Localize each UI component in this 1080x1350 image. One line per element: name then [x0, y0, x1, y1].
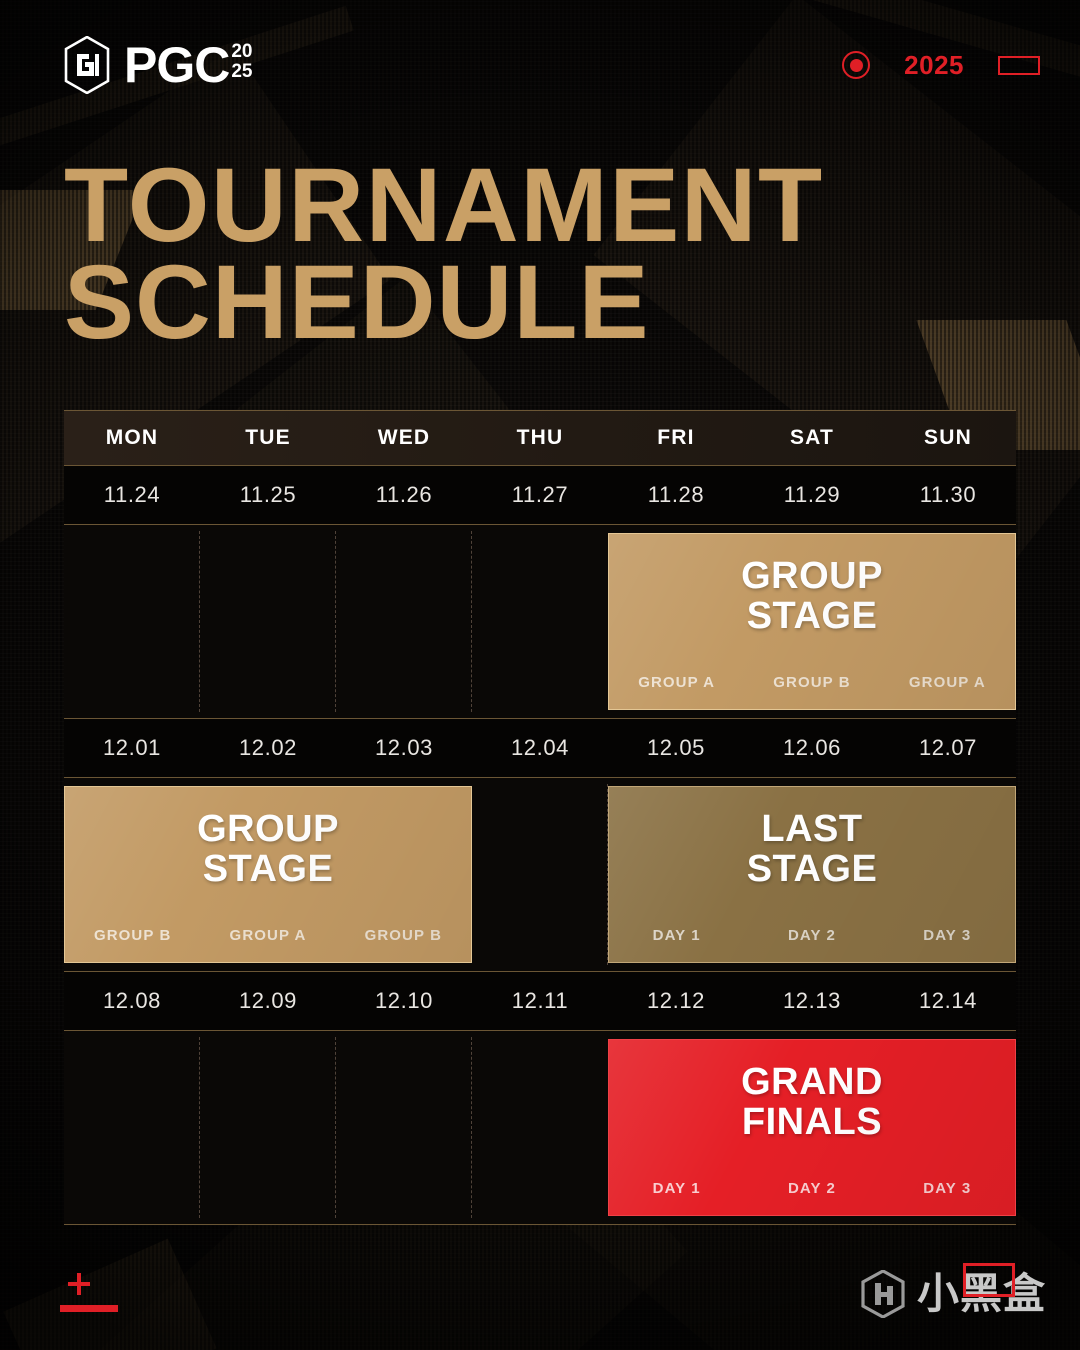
weekday-thu: THU — [472, 411, 608, 465]
brand-wordmark: PGC 20 25 — [124, 40, 253, 90]
date-cell: 12.05 — [608, 719, 744, 777]
event-title-line2: STAGE — [747, 850, 878, 890]
date-cell: 12.10 — [336, 972, 472, 1030]
date-cell: 12.02 — [200, 719, 336, 777]
event-sublabel: GROUP A — [880, 674, 1015, 691]
date-cell: 12.13 — [744, 972, 880, 1030]
watermark: 小黑盒 — [861, 1270, 1046, 1318]
event-title: LAST STAGE — [609, 787, 1015, 927]
weekday-sun: SUN — [880, 411, 1016, 465]
event-row-week2: GROUP STAGE GROUP B GROUP A GROUP B LAST… — [64, 778, 1016, 972]
weekday-fri: FRI — [608, 411, 744, 465]
empty-slot — [336, 525, 472, 718]
date-cell: 11.27 — [472, 466, 608, 524]
empty-slot — [200, 525, 336, 718]
brand-name: PGC — [124, 40, 229, 90]
date-cell: 11.24 — [64, 466, 200, 524]
date-cell: 11.26 — [336, 466, 472, 524]
event-title-line1: GROUP — [741, 557, 883, 597]
weekday-wed: WED — [336, 411, 472, 465]
poster-canvas: PGC 20 25 2025 TOURNAMENT SCHEDULE MON T… — [0, 0, 1080, 1350]
date-row-week1: 11.24 11.25 11.26 11.27 11.28 11.29 11.3… — [64, 466, 1016, 525]
empty-slot — [64, 1031, 200, 1224]
event-sublabel: GROUP B — [65, 927, 200, 944]
date-cell: 12.01 — [64, 719, 200, 777]
empty-slot — [336, 1031, 472, 1224]
weekday-tue: TUE — [200, 411, 336, 465]
page-title: TOURNAMENT SCHEDULE — [64, 158, 824, 351]
date-cell: 12.09 — [200, 972, 336, 1030]
date-cell: 11.25 — [200, 466, 336, 524]
date-cell: 12.03 — [336, 719, 472, 777]
page-title-line1: TOURNAMENT — [64, 158, 824, 255]
date-cell: 12.11 — [472, 972, 608, 1030]
date-row-week3: 12.08 12.09 12.10 12.11 12.12 12.13 12.1… — [64, 972, 1016, 1031]
event-row-week3: GRAND FINALS DAY 1 DAY 2 DAY 3 — [64, 1031, 1016, 1225]
empty-slot — [64, 525, 200, 718]
event-block-group-stage[interactable]: GROUP STAGE GROUP B GROUP A GROUP B — [64, 786, 472, 963]
event-sublabel: DAY 2 — [744, 927, 879, 944]
event-sublabels: DAY 1 DAY 2 DAY 3 — [609, 927, 1015, 962]
event-sublabels: GROUP A GROUP B GROUP A — [609, 674, 1015, 709]
empty-slot — [472, 525, 608, 718]
event-title: GROUP STAGE — [65, 787, 471, 927]
tournament-schedule-grid: MON TUE WED THU FRI SAT SUN 11.24 11.25 … — [64, 410, 1016, 1225]
watermark-box-icon — [963, 1263, 1015, 1297]
date-row-week2: 12.01 12.02 12.03 12.04 12.05 12.06 12.0… — [64, 719, 1016, 778]
rectangle-outline-icon — [998, 56, 1040, 75]
weekday-mon: MON — [64, 411, 200, 465]
plus-mark-icon — [68, 1273, 90, 1295]
event-title-line1: GROUP — [197, 810, 339, 850]
brand-lockup: PGC 20 25 — [64, 36, 253, 94]
date-cell: 12.06 — [744, 719, 880, 777]
date-cell: 12.07 — [880, 719, 1016, 777]
empty-slot — [472, 1031, 608, 1224]
footer-left-marks — [60, 1273, 118, 1312]
event-block-group-stage[interactable]: GROUP STAGE GROUP A GROUP B GROUP A — [608, 533, 1016, 710]
empty-slot — [200, 1031, 336, 1224]
event-sublabel: GROUP A — [200, 927, 335, 944]
event-title: GRAND FINALS — [609, 1040, 1015, 1180]
event-sublabel: GROUP A — [609, 674, 744, 691]
event-title-line1: LAST — [761, 810, 862, 850]
heybox-hex-icon — [861, 1270, 905, 1318]
event-sublabel: DAY 2 — [744, 1180, 879, 1197]
event-title-line2: FINALS — [742, 1103, 882, 1143]
event-title-line2: STAGE — [203, 850, 334, 890]
event-sublabel: GROUP B — [744, 674, 879, 691]
event-block-grand-finals[interactable]: GRAND FINALS DAY 1 DAY 2 DAY 3 — [608, 1039, 1016, 1216]
top-right-marks: 2025 — [842, 50, 1040, 81]
date-cell: 12.08 — [64, 972, 200, 1030]
empty-slot — [472, 778, 608, 971]
date-cell: 11.28 — [608, 466, 744, 524]
brand-year-bottom: 25 — [231, 62, 252, 82]
date-cell: 12.04 — [472, 719, 608, 777]
event-block-last-stage[interactable]: LAST STAGE DAY 1 DAY 2 DAY 3 — [608, 786, 1016, 963]
event-sublabel: DAY 1 — [609, 927, 744, 944]
event-sublabel: DAY 3 — [880, 927, 1015, 944]
weekday-header-row: MON TUE WED THU FRI SAT SUN — [64, 410, 1016, 466]
edition-year: 2025 — [904, 50, 964, 81]
event-title-line2: STAGE — [747, 597, 878, 637]
top-bar: PGC 20 25 2025 — [0, 0, 1080, 130]
red-bar-icon — [60, 1305, 118, 1312]
event-title: GROUP STAGE — [609, 534, 1015, 674]
weekday-sat: SAT — [744, 411, 880, 465]
event-row-week1: GROUP STAGE GROUP A GROUP B GROUP A — [64, 525, 1016, 719]
date-cell: 12.14 — [880, 972, 1016, 1030]
brand-year: 20 25 — [231, 42, 252, 82]
event-sublabel: DAY 3 — [880, 1180, 1015, 1197]
event-sublabels: GROUP B GROUP A GROUP B — [65, 927, 471, 962]
date-cell: 11.29 — [744, 466, 880, 524]
event-sublabel: DAY 1 — [609, 1180, 744, 1197]
event-sublabels: DAY 1 DAY 2 DAY 3 — [609, 1180, 1015, 1215]
date-cell: 12.12 — [608, 972, 744, 1030]
event-title-line1: GRAND — [741, 1063, 883, 1103]
watermark-text: 小黑盒 — [917, 1273, 1046, 1315]
record-dot-icon — [842, 51, 870, 79]
brand-year-top: 20 — [231, 42, 252, 62]
page-title-line2: SCHEDULE — [64, 255, 824, 352]
pgc-hex-icon — [64, 36, 110, 94]
date-cell: 11.30 — [880, 466, 1016, 524]
event-sublabel: GROUP B — [336, 927, 471, 944]
